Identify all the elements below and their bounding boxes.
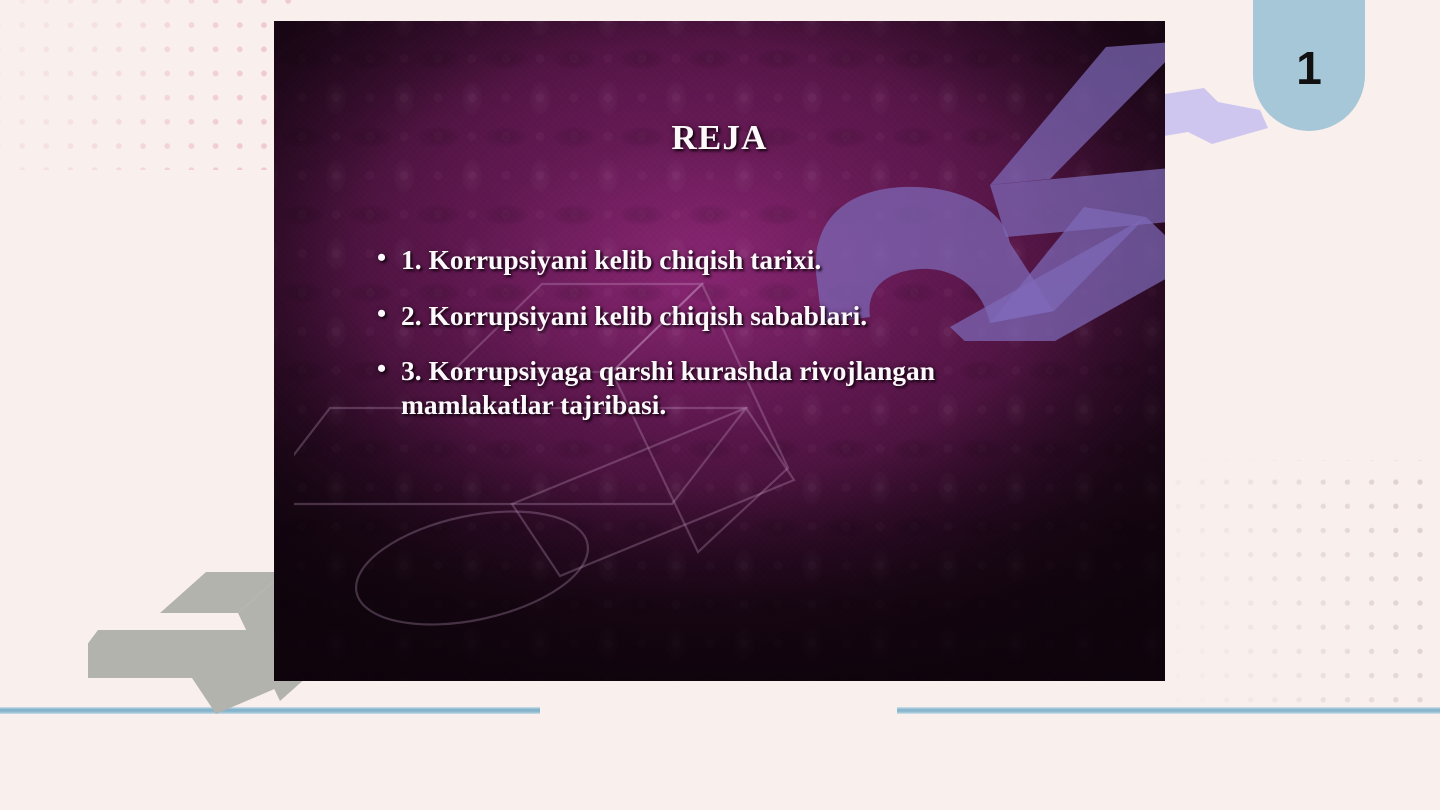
slide-title: REJA (274, 118, 1165, 158)
slide-bullet-list: 1. Korrupsiyani kelib chiqish tarixi. 2.… (375, 243, 1075, 443)
divider-line-right (897, 707, 1440, 714)
presentation-slide: REJA 1. Korrupsiyani kelib chiqish tarix… (274, 21, 1165, 681)
divider-line-left (0, 707, 540, 714)
page-number-value: 1 (1296, 45, 1322, 91)
digits-24-decoration-outside (1152, 88, 1272, 150)
bullet-item-3: 3. Korrupsiyaga qarshi kurashda rivojlan… (375, 354, 1075, 421)
page-number-badge: 1 (1253, 0, 1365, 131)
bullet-item-1: 1. Korrupsiyani kelib chiqish tarixi. (375, 243, 1075, 277)
dot-grid-bottom-right-decoration (1160, 460, 1440, 705)
dot-grid-top-left-decoration (0, 0, 300, 170)
slide-text-content: REJA 1. Korrupsiyani kelib chiqish tarix… (274, 21, 1165, 681)
bullet-item-2: 2. Korrupsiyani kelib chiqish sabablari. (375, 299, 1075, 333)
